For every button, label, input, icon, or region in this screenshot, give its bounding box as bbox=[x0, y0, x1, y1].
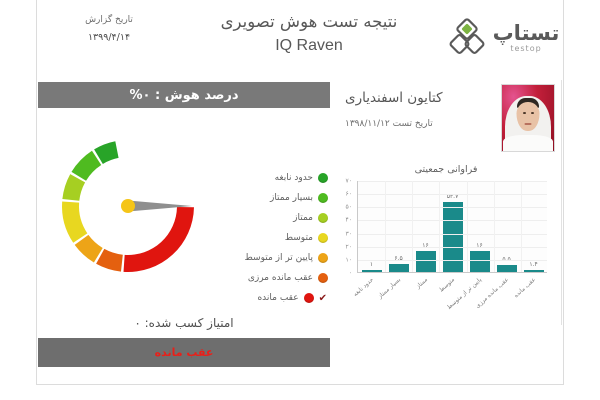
person-text: کتایون اسفندیاری تاریخ تست ۱۳۹۸/۱۱/۱۲ bbox=[341, 88, 495, 129]
chart-vgridline bbox=[412, 181, 413, 272]
legend-item: پایین تر از متوسط bbox=[218, 248, 328, 268]
person-test-date: تاریخ تست ۱۳۹۸/۱۱/۱۲ bbox=[345, 119, 495, 129]
gauge-segment bbox=[96, 249, 123, 272]
gauge-segment bbox=[124, 207, 194, 272]
legend-color-dot bbox=[318, 193, 328, 203]
result-label: عقب مانده bbox=[155, 346, 214, 359]
person-info: کتایون اسفندیاری تاریخ تست ۱۳۹۸/۱۱/۱۲ bbox=[330, 80, 561, 164]
chart-bar bbox=[362, 270, 382, 272]
chart-x-label-slot: عقب مانده bbox=[523, 275, 543, 309]
chart-x-label-slot: بسیار ممتاز bbox=[388, 275, 408, 309]
gauge-panel-heading: درصد هوش : ۰% bbox=[38, 82, 330, 108]
chart-y-axis: ۰۱۰۲۰۳۰۴۰۵۰۶۰۷۰ bbox=[339, 181, 355, 273]
chart-bar bbox=[389, 264, 409, 272]
chart-bar bbox=[443, 202, 463, 272]
gauge-hub bbox=[121, 199, 135, 213]
chart-vgridline bbox=[494, 181, 495, 272]
legend-item-label: پایین تر از متوسط bbox=[245, 253, 314, 263]
chart-bar bbox=[470, 251, 490, 272]
chart-x-axis: حدود نابغهبسیار ممتازممتازمتوسطپایین تر … bbox=[357, 275, 547, 309]
score-line: امتیاز کسب شده: ۰ bbox=[38, 308, 330, 338]
brand-logo: تستاپ testop bbox=[446, 8, 558, 68]
chart-y-tick: ۵۰ bbox=[346, 204, 352, 211]
avatar bbox=[501, 84, 555, 152]
page-title-en: IQ Raven bbox=[174, 37, 444, 55]
legend-color-dot bbox=[318, 233, 328, 243]
legend-item-label: عقب مانده مرزی bbox=[248, 273, 313, 283]
legend-item: بسیار ممتاز bbox=[218, 188, 328, 208]
page-title: نتیجه تست هوش تصویری IQ Raven bbox=[174, 10, 444, 55]
gauge-legend: حدود نابغهبسیار ممتازممتازمتوسطپایین تر … bbox=[218, 168, 328, 308]
report-header: تستاپ testop نتیجه تست هوش تصویری IQ Rav… bbox=[36, 0, 564, 76]
legend-item-label: عقب مانده bbox=[257, 293, 298, 303]
legend-item: ✔عقب مانده bbox=[218, 288, 328, 308]
chart-vgridline bbox=[385, 181, 386, 272]
chart-bar bbox=[497, 265, 517, 272]
person-name: کتایون اسفندیاری bbox=[345, 88, 495, 110]
chart-y-tick: ۳۰ bbox=[346, 230, 352, 237]
chart-vgridline bbox=[467, 181, 468, 272]
chart-x-tick-label: ممتاز bbox=[415, 277, 429, 290]
chart-gridline bbox=[358, 234, 547, 235]
legend-item-label: حدود نابغه bbox=[275, 173, 313, 183]
report-date-value: ۱۳۹۹/۴/۱۴ bbox=[54, 29, 164, 47]
chart-gridline bbox=[358, 247, 547, 248]
report-date: تاریخ گزارش ۱۳۹۹/۴/۱۴ bbox=[54, 12, 164, 47]
legend-item-label: ممتاز bbox=[293, 213, 313, 223]
chart-y-tick: ۰ bbox=[349, 270, 352, 277]
iq-gauge-panel: درصد هوش : ۰% حدود نابغهبسیار ممتازممتاز… bbox=[38, 82, 330, 367]
legend-item-label: بسیار ممتاز bbox=[270, 193, 313, 203]
chart-bar-value-label: ۱.۴ bbox=[529, 261, 537, 268]
legend-item: حدود نابغه bbox=[218, 168, 328, 188]
gauge-segment bbox=[71, 151, 101, 181]
chart-bar-value-label: ۱ bbox=[370, 261, 373, 268]
legend-selected-check-icon: ✔ bbox=[319, 293, 327, 304]
chart-x-tick-label: عقب مانده bbox=[514, 277, 538, 299]
chart-vgridline bbox=[521, 181, 522, 272]
chart-y-tick: ۱۰ bbox=[346, 256, 352, 263]
chart-x-label-slot: ممتاز bbox=[415, 275, 435, 309]
chart-body: ۰۱۰۲۰۳۰۴۰۵۰۶۰۷۰ ۱۶.۵۱۶۵۴.۷۱۶۵.۵۱.۴ حدود … bbox=[339, 181, 553, 309]
chart-vgridline bbox=[439, 181, 440, 272]
chart-x-label-slot: عقب مانده مرزی bbox=[496, 275, 516, 309]
testop-diamond-icon bbox=[445, 16, 489, 60]
chart-gridline bbox=[358, 220, 547, 221]
legend-color-dot bbox=[318, 273, 328, 283]
chart-bar bbox=[416, 251, 436, 272]
legend-item: متوسط bbox=[218, 228, 328, 248]
chart-x-label-slot: حدود نابغه bbox=[361, 275, 381, 309]
chart-title: فراوانی جمعیتی bbox=[330, 164, 562, 175]
chart-x-tick-label: متوسط bbox=[438, 277, 456, 294]
chart-y-tick: ۲۰ bbox=[346, 243, 352, 250]
gauge-segment bbox=[62, 174, 85, 201]
chart-plot-area: ۱۶.۵۱۶۵۴.۷۱۶۵.۵۱.۴ bbox=[357, 181, 547, 273]
legend-item: ممتاز bbox=[218, 208, 328, 228]
brand-name-fa: تستاپ bbox=[493, 23, 560, 44]
legend-color-dot bbox=[318, 213, 328, 223]
legend-item: عقب مانده مرزی bbox=[218, 268, 328, 288]
chart-x-tick-label: بسیار ممتاز bbox=[377, 277, 402, 300]
person-and-chart-column: کتایون اسفندیاری تاریخ تست ۱۳۹۸/۱۱/۱۲ فر… bbox=[330, 80, 562, 325]
gauge-segment bbox=[62, 202, 87, 243]
chart-bar bbox=[524, 270, 544, 272]
chart-gridline bbox=[358, 194, 547, 195]
chart-y-tick: ۶۰ bbox=[346, 191, 352, 198]
brand-wordmark: تستاپ testop bbox=[493, 23, 560, 53]
gauge-segment bbox=[75, 235, 103, 263]
chart-x-tick-label: حدود نابغه bbox=[352, 277, 374, 298]
population-frequency-chart: فراوانی جمعیتی ۰۱۰۲۰۳۰۴۰۵۰۶۰۷۰ ۱۶.۵۱۶۵۴.… bbox=[330, 164, 562, 322]
chart-gridline bbox=[358, 260, 547, 261]
chart-gridline bbox=[358, 181, 547, 182]
gauge-area: حدود نابغهبسیار ممتازممتازمتوسطپایین تر … bbox=[38, 108, 330, 308]
chart-gridline bbox=[358, 207, 547, 208]
chart-y-tick: ۴۰ bbox=[346, 217, 352, 224]
legend-item-label: متوسط bbox=[285, 233, 313, 243]
iq-gauge bbox=[40, 114, 220, 294]
report-date-label: تاریخ گزارش bbox=[54, 12, 164, 29]
legend-color-dot bbox=[304, 293, 314, 303]
legend-color-dot bbox=[318, 173, 328, 183]
legend-color-dot bbox=[318, 253, 328, 263]
result-bar: عقب مانده bbox=[38, 338, 330, 367]
page-title-fa: نتیجه تست هوش تصویری bbox=[174, 10, 444, 35]
chart-y-tick: ۷۰ bbox=[346, 178, 352, 185]
brand-name-en: testop bbox=[510, 45, 541, 53]
